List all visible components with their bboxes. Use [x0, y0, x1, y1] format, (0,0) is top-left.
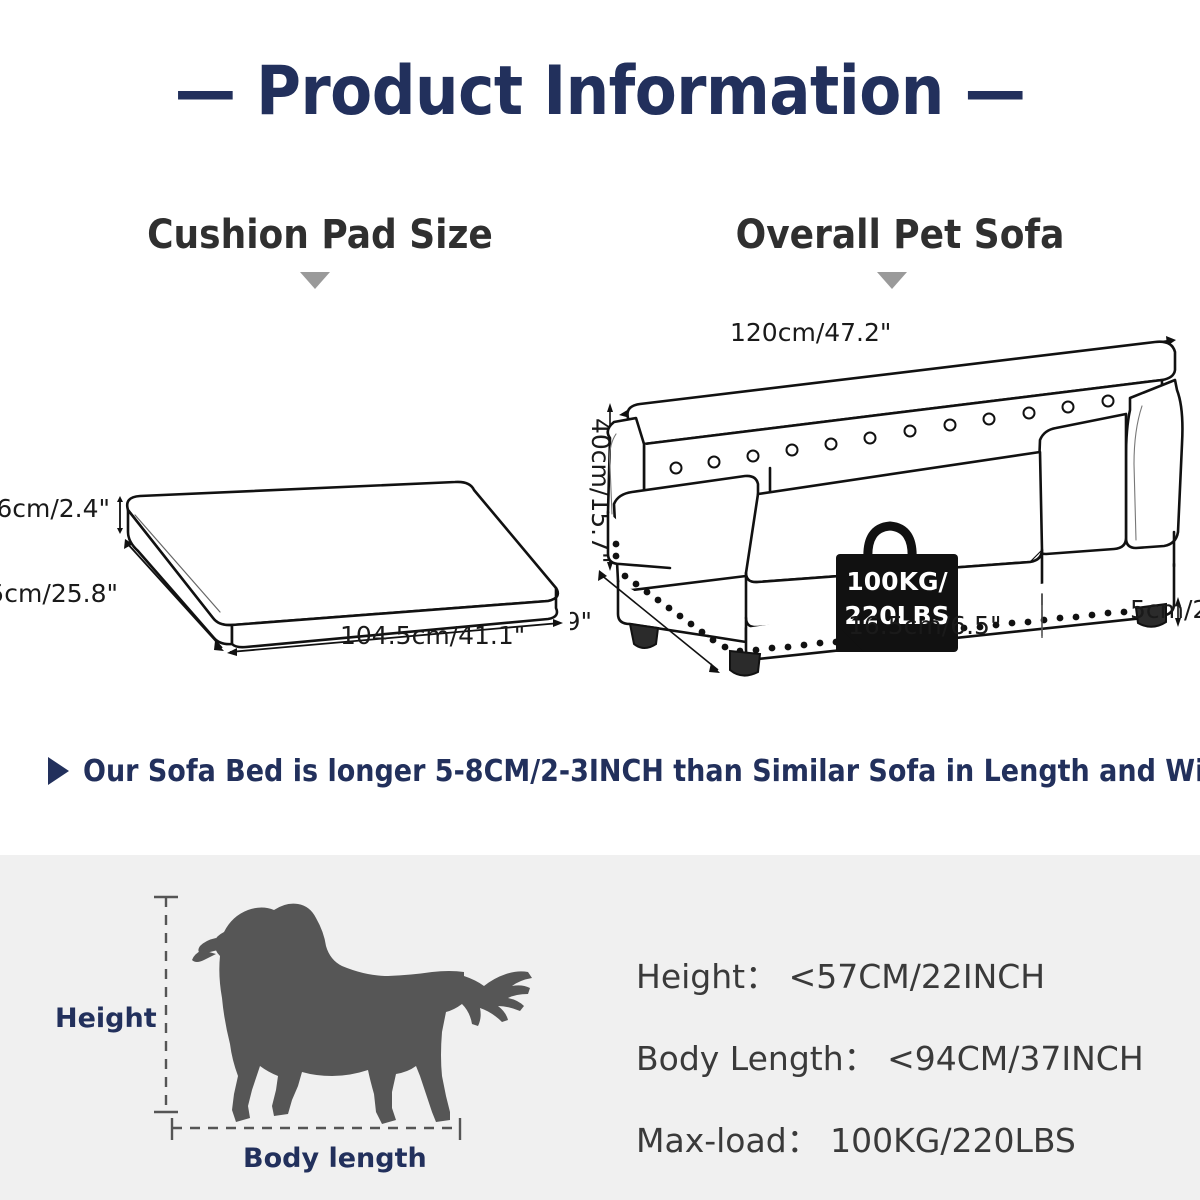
sofa-illustration: 120cm/47.2" 40cm/15.7" [570, 318, 1200, 678]
highlight-banner-text: Our Sofa Bed is longer 5-8CM/2-3INCH tha… [83, 754, 1200, 789]
sofa-depth-label: 74cm/29" [570, 607, 592, 636]
max-load-tag-line1: 100KG/ [846, 567, 948, 596]
sofa-seat-height-label: 16.5cm/6.5" [848, 611, 1001, 640]
dog-shape [192, 904, 532, 1124]
sofa-caret-down-icon [877, 272, 907, 289]
sofa-section-heading: Overall Pet Sofa [640, 212, 1160, 258]
product-information-page: — Product Information — Cushion Pad Size… [0, 0, 1200, 1200]
sofa-foot-height-label: 5cm/2" [1130, 595, 1200, 624]
dog-silhouette-illustration [120, 880, 540, 1170]
cushion-depth-label: 65.5cm/25.8" [0, 579, 118, 608]
spec-body-length: Body Length： <94CM/37INCH [636, 1032, 1144, 1080]
spec-max-load: Max-load： 100KG/220LBS [636, 1114, 1144, 1162]
page-title: — Product Information — [0, 52, 1200, 131]
cushion-caret-down-icon [300, 272, 330, 289]
sofa-width-label: 120cm/47.2" [730, 318, 891, 347]
cushion-thickness-label: 6cm/2.4" [0, 494, 110, 523]
dog-body-length-label: Body length [243, 1143, 427, 1174]
cushion-section-heading: Cushion Pad Size [60, 212, 580, 258]
spec-height: Height： <57CM/22INCH [636, 950, 1144, 998]
dog-spec-list: Height： <57CM/22INCH Body Length： <94CM/… [636, 950, 1144, 1162]
dog-height-label: Height [55, 1003, 157, 1034]
cushion-pad-illustration: 6cm/2.4" 65.5cm/25.8" 104.5cm/41.1" [0, 420, 600, 670]
highlight-banner: Our Sofa Bed is longer 5-8CM/2-3INCH tha… [0, 745, 1200, 797]
cushion-length-label: 104.5cm/41.1" [340, 621, 525, 650]
play-triangle-icon [48, 757, 69, 785]
